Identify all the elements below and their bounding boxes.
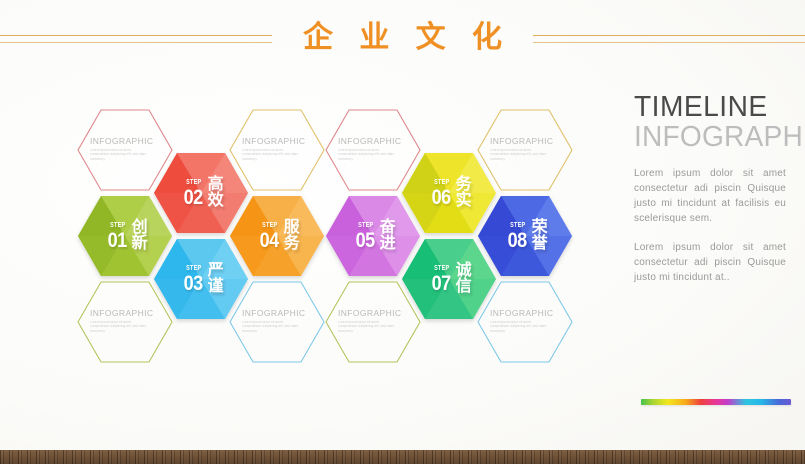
- hexagon-chinese-label: 奋进: [380, 220, 396, 253]
- step-word: STEP: [110, 222, 125, 229]
- timeline-panel: TIMELINE INFOGRAPHICS Lorem ipsum dolor …: [634, 92, 794, 285]
- outline-hex-title: INFOGRAPHIC: [338, 308, 410, 318]
- panel-heading-top: TIMELINE: [634, 92, 789, 122]
- rainbow-gradient-bar: [641, 399, 791, 405]
- outline-hex-text: INFOGRAPHIC Lorem ipsum dolor sit amet, …: [490, 308, 562, 333]
- step-number: 05: [356, 230, 375, 251]
- outline-hex-text: INFOGRAPHIC Lorem ipsum dolor sit amet, …: [490, 136, 562, 161]
- hexagon-content: STEP 04 服务: [229, 194, 325, 278]
- hexagon-chinese-label: 荣誉: [532, 220, 548, 253]
- step-indicator: STEP 08: [506, 222, 528, 251]
- hexagon-content: STEP 08 荣誉: [477, 194, 573, 278]
- step-indicator: STEP 05: [354, 222, 376, 251]
- hexagon-chinese-label: 高效: [208, 177, 224, 210]
- slide-canvas: 企 业 文 化 INFOGRAPHIC Lorem ipsum dolor si…: [0, 0, 805, 464]
- panel-paragraph-1: Lorem ipsum dolor sit amet consectetur a…: [634, 166, 786, 226]
- step-word: STEP: [434, 265, 449, 272]
- step-word: STEP: [186, 265, 201, 272]
- step-08-honor[interactable]: STEP 08 荣誉: [477, 194, 573, 278]
- outline-hex-title: INFOGRAPHIC: [90, 136, 162, 146]
- panel-heading-bottom: INFOGRAPHICS: [634, 122, 789, 153]
- hexagon-chinese-label: 诚信: [456, 263, 472, 296]
- step-indicator: STEP 04: [258, 222, 280, 251]
- outline-hex-text: INFOGRAPHIC Lorem ipsum dolor sit amet, …: [242, 136, 314, 161]
- hexagon-chinese-label: 务实: [456, 177, 472, 210]
- outline-hex-text: INFOGRAPHIC Lorem ipsum dolor sit amet, …: [90, 136, 162, 161]
- step-04-service[interactable]: STEP 04 服务: [229, 194, 325, 278]
- outline-hex-text: INFOGRAPHIC Lorem ipsum dolor sit amet, …: [90, 308, 162, 333]
- hexagon-chinese-label: 服务: [284, 220, 300, 253]
- outline-hex-text: INFOGRAPHIC Lorem ipsum dolor sit amet, …: [242, 308, 314, 333]
- outline-hex-title: INFOGRAPHIC: [490, 308, 562, 318]
- outline-hex-title: INFOGRAPHIC: [338, 136, 410, 146]
- outline-hex-body: Lorem ipsum dolor sit amet, consectetuer…: [242, 320, 304, 333]
- step-word: STEP: [358, 222, 373, 229]
- outline-hex-body: Lorem ipsum dolor sit amet, consectetuer…: [338, 148, 400, 161]
- outline-hex-body: Lorem ipsum dolor sit amet, consectetuer…: [90, 320, 152, 333]
- outline-hex-body: Lorem ipsum dolor sit amet, consectetuer…: [490, 320, 552, 333]
- step-word: STEP: [510, 222, 525, 229]
- outline-hex-body: Lorem ipsum dolor sit amet, consectetuer…: [90, 148, 152, 161]
- outline-hex-title: INFOGRAPHIC: [242, 136, 314, 146]
- hexagon-chinese-label: 创新: [132, 220, 148, 253]
- step-word: STEP: [434, 179, 449, 186]
- step-indicator: STEP 01: [106, 222, 128, 251]
- step-word: STEP: [186, 179, 201, 186]
- step-number: 06: [432, 187, 451, 208]
- outline-hex-title: INFOGRAPHIC: [242, 308, 314, 318]
- step-number: 04: [260, 230, 279, 251]
- step-number: 02: [184, 187, 203, 208]
- step-number: 08: [508, 230, 527, 251]
- outline-hex-title: INFOGRAPHIC: [90, 308, 162, 318]
- outline-hex-text: INFOGRAPHIC Lorem ipsum dolor sit amet, …: [338, 308, 410, 333]
- outline-hex-title: INFOGRAPHIC: [490, 136, 562, 146]
- panel-paragraph-2: Lorem ipsum dolor sit amet consectetur a…: [634, 240, 786, 285]
- step-number: 07: [432, 273, 451, 294]
- step-number: 03: [184, 273, 203, 294]
- outline-hex-text: INFOGRAPHIC Lorem ipsum dolor sit amet, …: [338, 136, 410, 161]
- wooden-desk-strip: [0, 450, 805, 464]
- outline-hex-body: Lorem ipsum dolor sit amet, consectetuer…: [338, 320, 400, 333]
- step-indicator: STEP 03: [182, 265, 204, 294]
- step-indicator: STEP 02: [182, 179, 204, 208]
- hexagon-chinese-label: 严谨: [208, 263, 224, 296]
- step-number: 01: [108, 230, 127, 251]
- step-indicator: STEP 06: [430, 179, 452, 208]
- outline-hex-body: Lorem ipsum dolor sit amet, consectetuer…: [490, 148, 552, 161]
- step-indicator: STEP 07: [430, 265, 452, 294]
- step-word: STEP: [262, 222, 277, 229]
- outline-hex-body: Lorem ipsum dolor sit amet, consectetuer…: [242, 148, 304, 161]
